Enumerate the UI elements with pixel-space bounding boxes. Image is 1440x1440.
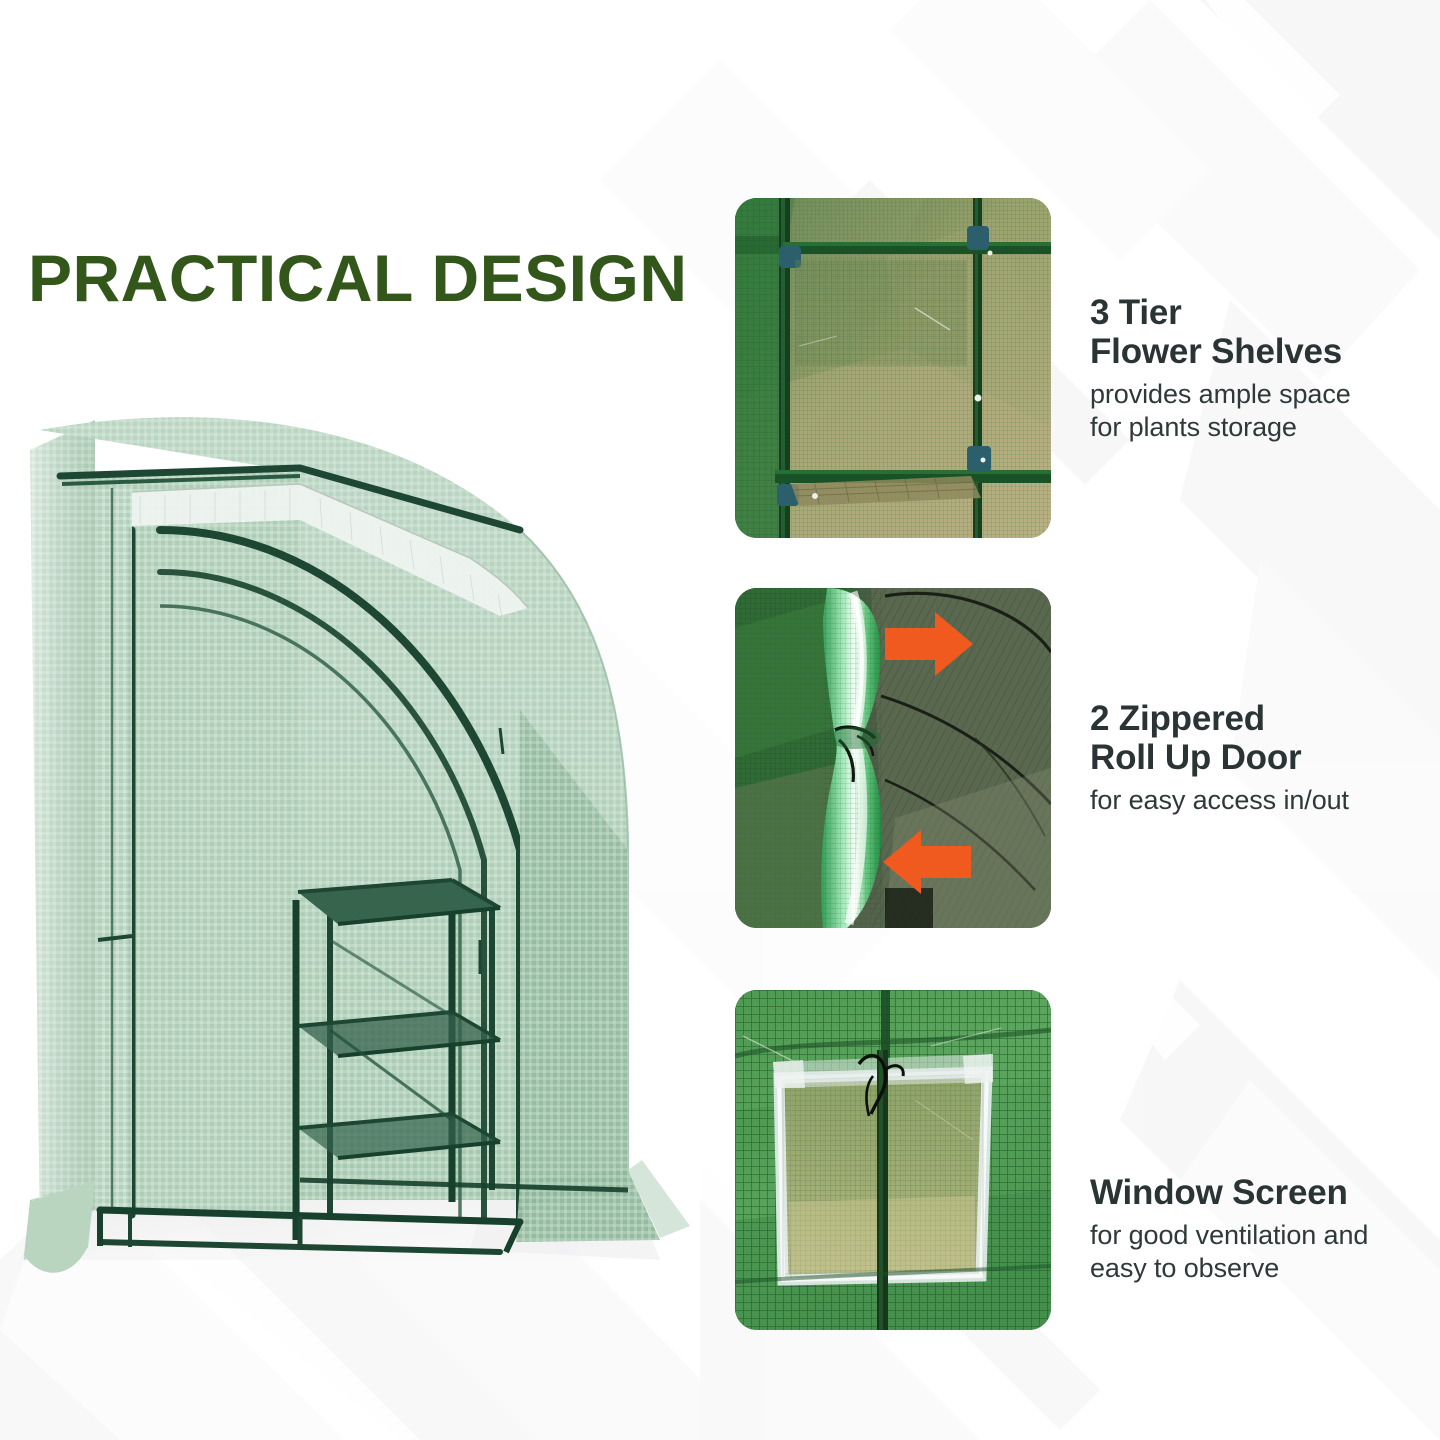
feature-row-roll-up-door: 2 Zippered Roll Up Door for easy access … [735, 588, 1435, 933]
greenhouse-product-image [0, 380, 720, 1300]
roll-up-door-photo[interactable] [735, 588, 1051, 928]
feature-heading-line1: Window Screen [1090, 1173, 1435, 1212]
feature-sub-line1: provides ample space [1090, 378, 1435, 410]
feature-sub-line2: easy to observe [1090, 1252, 1435, 1284]
feature-heading-line2: Flower Shelves [1090, 332, 1435, 371]
feature-row-flower-shelves: 3 Tier Flower Shelves provides ample spa… [735, 198, 1435, 543]
feature-text-flower-shelves: 3 Tier Flower Shelves provides ample spa… [1090, 198, 1435, 538]
window-screen-photo[interactable] [735, 990, 1051, 1330]
feature-sub-line2: for plants storage [1090, 411, 1435, 443]
feature-sub-line1: for good ventilation and [1090, 1219, 1435, 1251]
feature-sub-line1: for easy access in/out [1090, 784, 1435, 816]
feature-text-window-screen: Window Screen for good ventilation and e… [1090, 990, 1435, 1330]
feature-text-roll-up-door: 2 Zippered Roll Up Door for easy access … [1090, 588, 1435, 928]
feature-row-window-screen: Window Screen for good ventilation and e… [735, 990, 1435, 1335]
feature-heading-line1: 2 Zippered [1090, 699, 1435, 738]
feature-heading-line2: Roll Up Door [1090, 738, 1435, 777]
feature-heading-line1: 3 Tier [1090, 293, 1435, 332]
three-tier-shelf-photo[interactable] [735, 198, 1051, 538]
page-title: PRACTICAL DESIGN [28, 240, 688, 316]
